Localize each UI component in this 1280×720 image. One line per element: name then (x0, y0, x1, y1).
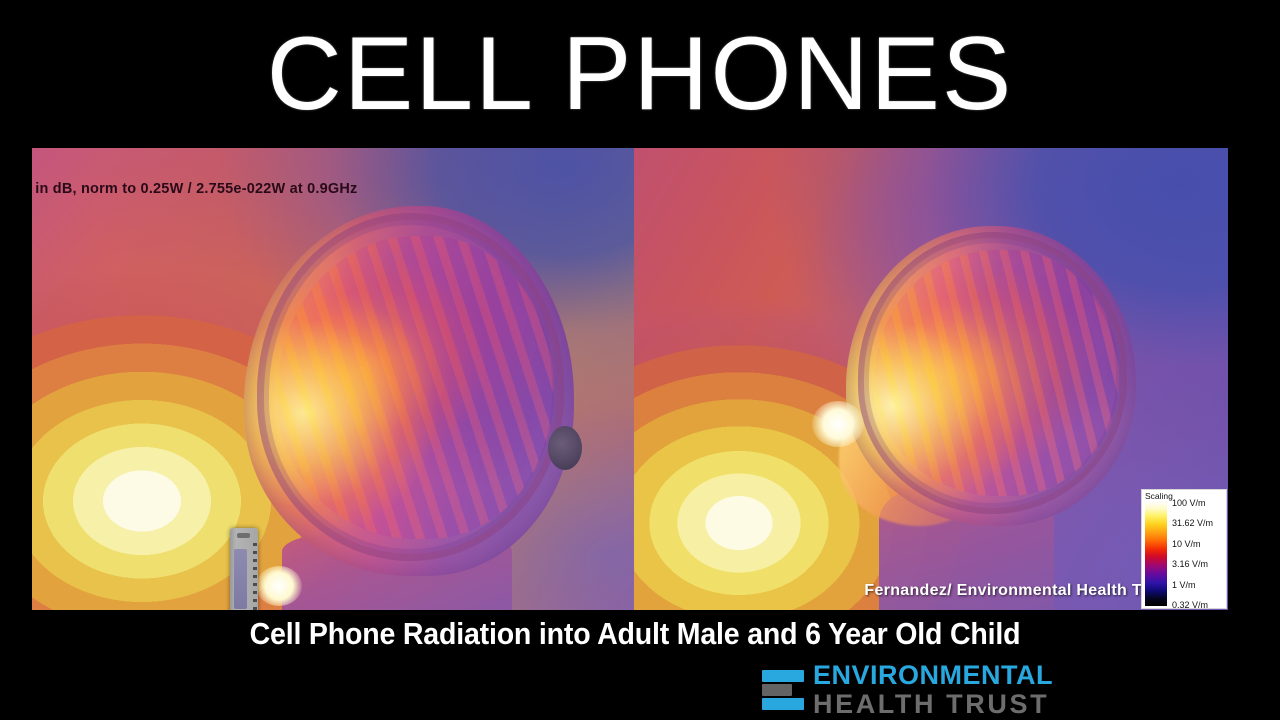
logo-bar-top (762, 670, 804, 682)
phone-screen (234, 549, 247, 609)
cell-phone-handset-adult (230, 528, 258, 610)
environmental-health-trust-logo: ENVIRONMENTAL HEALTH TRUST (762, 662, 1053, 718)
legend-tick-2: 10 V/m (1172, 539, 1226, 549)
legend-tick-labels: 100 V/m 31.62 V/m 10 V/m 3.16 V/m 1 V/m … (1172, 498, 1226, 610)
skull-outline-adult (257, 213, 564, 561)
panel-adult-male: ] in dB, norm to 0.25W / 2.755e-022W at … (32, 148, 634, 610)
legend-tick-3: 3.16 V/m (1172, 559, 1226, 569)
phone-keypad (253, 543, 257, 610)
eht-logo-wordmark: ENVIRONMENTAL HEALTH TRUST (813, 662, 1053, 718)
logo-bar-middle (762, 684, 792, 696)
logo-line-2: HEALTH TRUST (813, 691, 1053, 718)
skull-outline-child (858, 232, 1128, 514)
legend-tick-5: 0.32 V/m (1172, 600, 1226, 610)
eht-logo-mark-icon (762, 668, 804, 712)
figure-caption: Cell Phone Radiation into Adult Male and… (51, 615, 1219, 653)
head-child (846, 226, 1136, 526)
simulation-figure: ] in dB, norm to 0.25W / 2.755e-022W at … (32, 148, 1228, 610)
near-field-hotspot-child (812, 401, 864, 447)
legend-tick-1: 31.62 V/m (1172, 518, 1226, 528)
legend-colorbar (1145, 501, 1167, 606)
legend-title: Scaling (1145, 491, 1173, 501)
normalization-annotation: ] in dB, norm to 0.25W / 2.755e-022W at … (32, 181, 358, 197)
logo-bar-bottom (762, 698, 804, 710)
near-field-hotspot-adult (256, 566, 302, 606)
slide-root: CELL PHONES ] in dB, norm to 0.25W / 2.7… (0, 0, 1280, 720)
page-title: CELL PHONES (0, 22, 1280, 126)
phone-speaker-icon (237, 533, 249, 538)
legend-tick-0: 100 V/m (1172, 498, 1226, 508)
logo-line-1: ENVIRONMENTAL (813, 662, 1053, 689)
scaling-legend: Scaling 100 V/m 31.62 V/m 10 V/m 3.16 V/… (1141, 489, 1227, 609)
ear-adult (548, 426, 582, 470)
legend-tick-4: 1 V/m (1172, 580, 1226, 590)
panel-child: Fernandez/ Environmental Health Trust 20… (634, 148, 1228, 610)
